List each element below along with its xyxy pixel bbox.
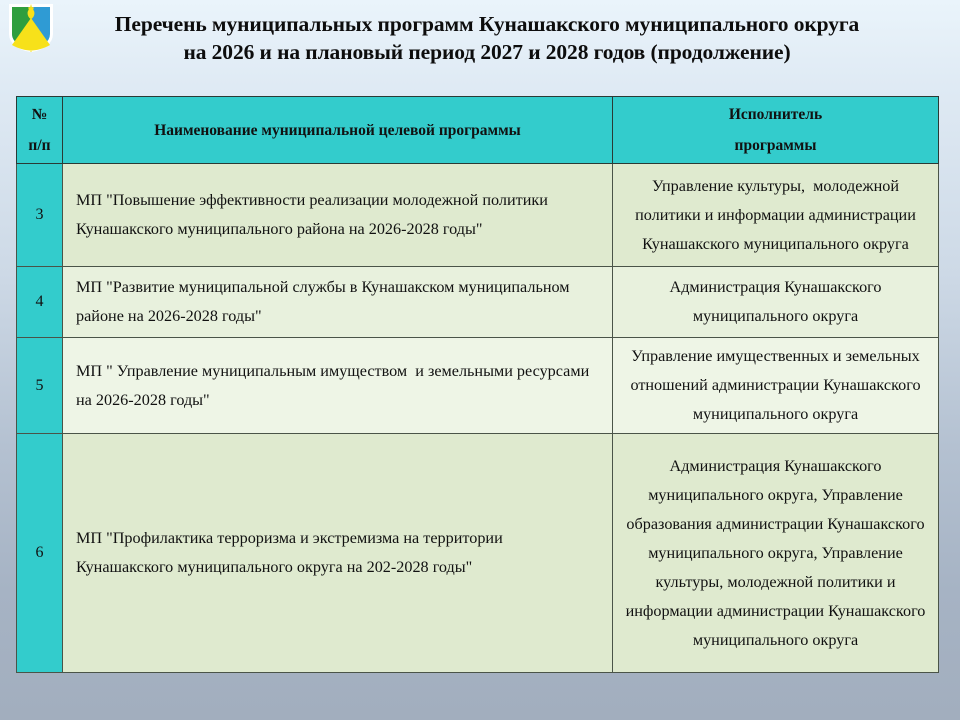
- page-title-line-2: на 2026 и на плановый период 2027 и 2028…: [62, 38, 912, 66]
- row-number: 6: [17, 434, 63, 673]
- row-program-name: МП "Повышение эффективности реализации м…: [63, 164, 613, 267]
- row-executor: Управление культуры, молодежной политики…: [613, 164, 939, 267]
- table-row: 5 МП " Управление муниципальным имуществ…: [17, 338, 939, 434]
- row-program-name-text: МП "Профилактика терроризма и экстремизм…: [63, 520, 612, 586]
- row-program-name-text: МП "Повышение эффективности реализации м…: [63, 182, 612, 248]
- header-cell-number: № п/п: [17, 97, 63, 164]
- header-number-line-1: №: [32, 106, 48, 123]
- row-number: 5: [17, 338, 63, 434]
- row-program-name: МП "Развитие муниципальной службы в Куна…: [63, 267, 613, 338]
- table-row: 6 МП "Профилактика терроризма и экстреми…: [17, 434, 939, 673]
- row-executor-text: Администрация Кунашакского муниципальног…: [613, 269, 938, 335]
- header-cell-program-name: Наименование муниципальной целевой прогр…: [63, 97, 613, 164]
- page-title: Перечень муниципальных программ Кунашакс…: [62, 10, 912, 66]
- row-executor-text: Управление культуры, молодежной политики…: [613, 168, 938, 263]
- table-header-row: № п/п Наименование муниципальной целевой…: [17, 97, 939, 164]
- row-executor-text: Администрация Кунашакского муниципальног…: [613, 448, 938, 659]
- row-program-name-text: МП " Управление муниципальным имуществом…: [63, 353, 612, 419]
- header-program-name-label: Наименование муниципальной целевой прогр…: [154, 122, 521, 139]
- row-executor-text: Управление имущественных и земельных отн…: [613, 338, 938, 433]
- header-cell-executor: Исполнитель программы: [613, 97, 939, 164]
- row-number: 4: [17, 267, 63, 338]
- row-executor: Администрация Кунашакского муниципальног…: [613, 434, 939, 673]
- header-executor-line-2: программы: [735, 137, 817, 154]
- table-row: 4 МП "Развитие муниципальной службы в Ку…: [17, 267, 939, 338]
- row-executor: Администрация Кунашакского муниципальног…: [613, 267, 939, 338]
- row-program-name: МП "Профилактика терроризма и экстремизм…: [63, 434, 613, 673]
- row-program-name-text: МП "Развитие муниципальной службы в Куна…: [63, 269, 612, 335]
- slide-header: Перечень муниципальных программ Кунашакс…: [0, 0, 960, 90]
- coat-of-arms-icon: [9, 4, 53, 52]
- row-executor: Управление имущественных и земельных отн…: [613, 338, 939, 434]
- table-row: 3 МП "Повышение эффективности реализации…: [17, 164, 939, 267]
- row-number: 3: [17, 164, 63, 267]
- header-number-line-2: п/п: [28, 137, 50, 154]
- row-program-name: МП " Управление муниципальным имуществом…: [63, 338, 613, 434]
- header-executor-line-1: Исполнитель: [729, 106, 822, 123]
- municipal-programs-table: № п/п Наименование муниципальной целевой…: [16, 96, 939, 673]
- page-title-line-1: Перечень муниципальных программ Кунашакс…: [62, 10, 912, 38]
